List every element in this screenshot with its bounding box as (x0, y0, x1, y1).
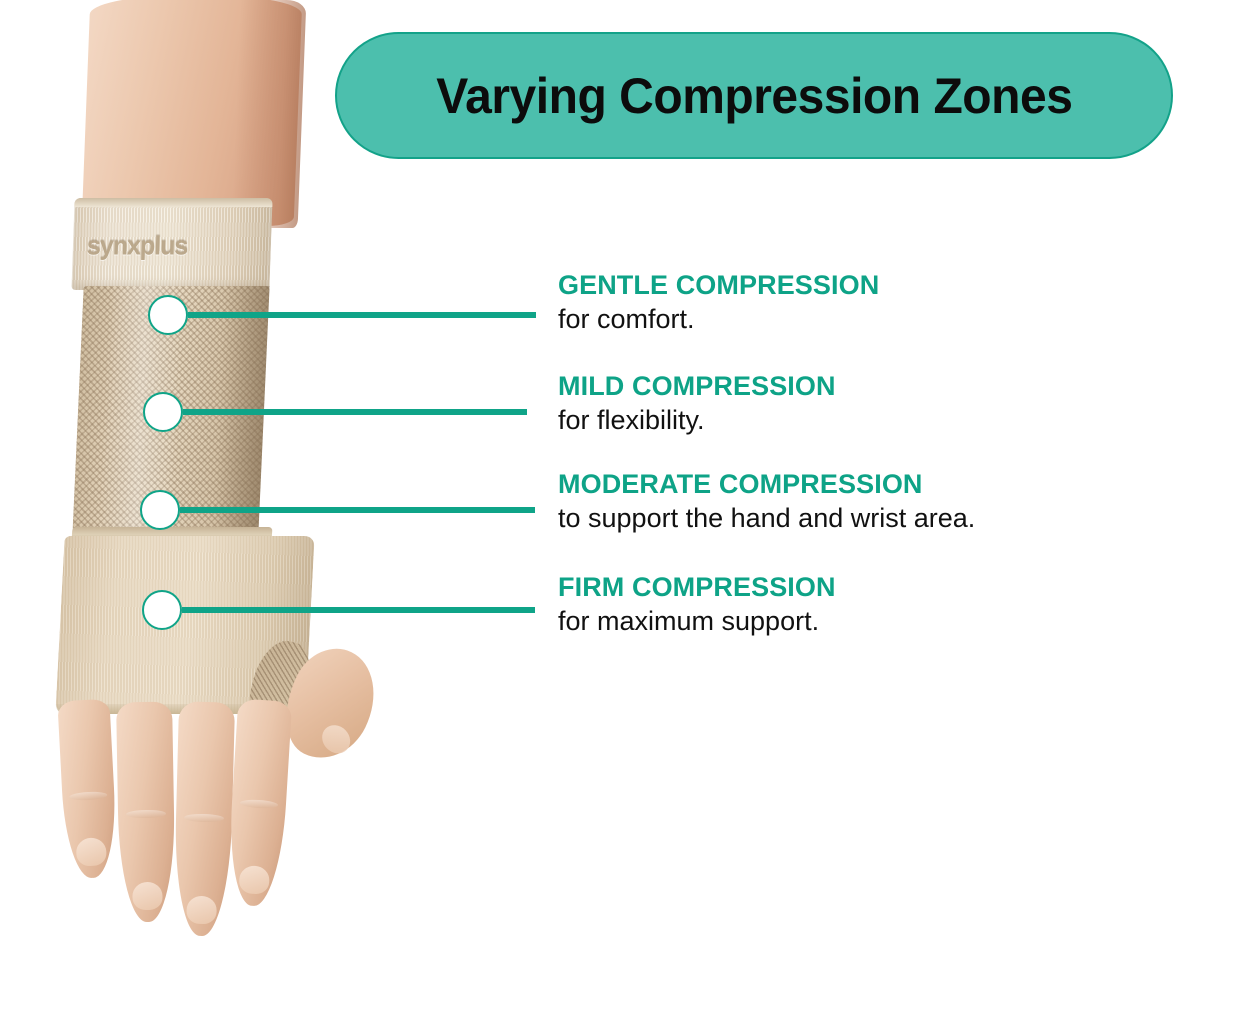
knuckle-crease (184, 813, 225, 822)
callout-dot-gentle[interactable] (148, 295, 188, 335)
leader-line-firm (182, 607, 535, 613)
finger-middle (173, 701, 235, 936)
finger-little (57, 699, 118, 879)
leader-line-mild (183, 409, 527, 415)
sleeve-cuff-band: synxplus (71, 198, 272, 290)
forearm-shading (232, 0, 307, 228)
callout-mild: MILD COMPRESSION for flexibility. (558, 371, 836, 437)
brand-logo: synxplus (86, 231, 187, 261)
page-title: Varying Compression Zones (436, 67, 1072, 125)
callout-subtext-mild: for flexibility. (558, 404, 836, 436)
fingernail (132, 882, 162, 911)
fingernail (238, 865, 270, 895)
finger-ring (116, 702, 176, 923)
knuckle-crease (239, 799, 278, 809)
callout-heading-firm: FIRM COMPRESSION (558, 572, 836, 602)
thumb-nail (316, 719, 356, 759)
finger-index (226, 699, 292, 908)
callout-firm: FIRM COMPRESSION for maximum support. (558, 572, 836, 638)
title-banner: Varying Compression Zones (335, 32, 1173, 159)
cuff-top-edge (74, 198, 272, 207)
callout-subtext-firm: for maximum support. (558, 605, 836, 637)
infographic-canvas: synxplus Var (0, 0, 1243, 1019)
fingernail (186, 896, 217, 925)
callout-gentle: GENTLE COMPRESSION for comfort. (558, 270, 879, 336)
leader-line-moderate (180, 507, 535, 513)
callout-moderate: MODERATE COMPRESSION to support the hand… (558, 469, 975, 535)
callout-dot-firm[interactable] (142, 590, 182, 630)
callout-heading-mild: MILD COMPRESSION (558, 371, 836, 401)
callout-dot-moderate[interactable] (140, 490, 180, 530)
knuckle-crease (126, 810, 166, 819)
callout-subtext-gentle: for comfort. (558, 303, 879, 335)
callout-subtext-moderate: to support the hand and wrist area. (558, 502, 975, 534)
callout-heading-gentle: GENTLE COMPRESSION (558, 270, 879, 300)
callout-dot-mild[interactable] (143, 392, 183, 432)
knuckle-crease (69, 791, 107, 801)
callout-heading-moderate: MODERATE COMPRESSION (558, 469, 975, 499)
fingernail (76, 837, 107, 867)
leader-line-gentle (188, 312, 536, 318)
